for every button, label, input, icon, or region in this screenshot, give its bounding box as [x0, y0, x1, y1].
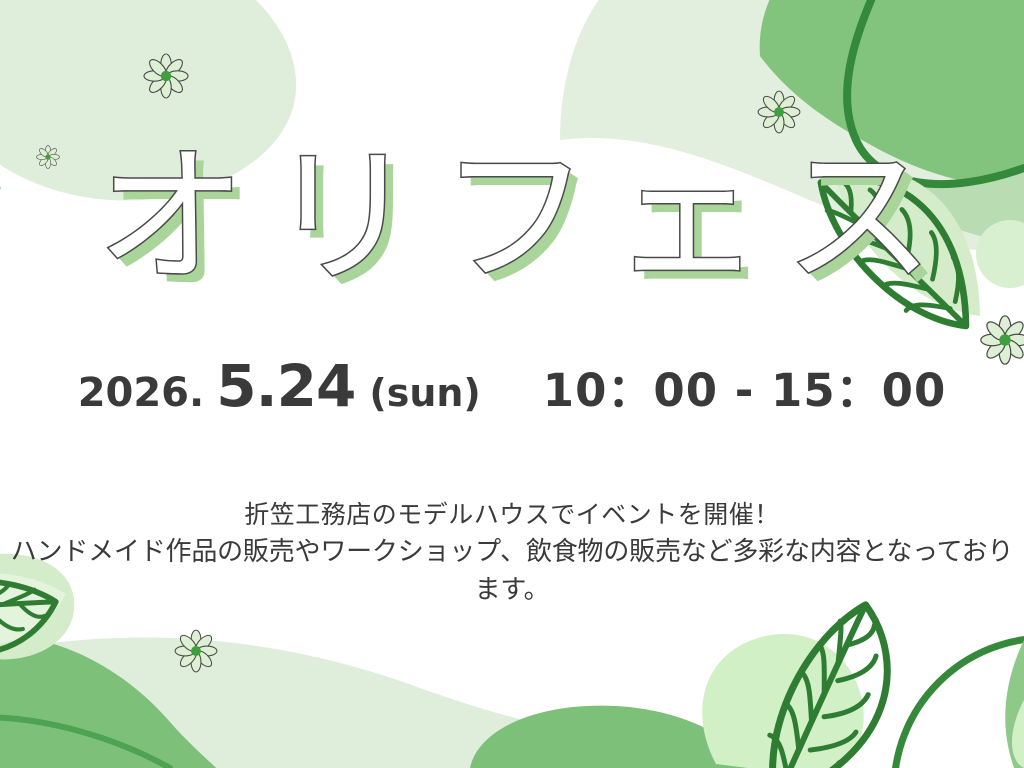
event-title-text: オリフェス — [96, 118, 956, 318]
event-flyer-poster: オリフェス オリフェス 2026. 5.24 (sun) 10：00 - 15：… — [0, 0, 1024, 768]
event-day-of-week: (sun) — [369, 371, 480, 415]
event-description-line-2: ハンドメイド作品の販売やワークショップ、飲食物の販売など多彩な内容となっておりま… — [0, 533, 1024, 609]
event-day-month: 5.24 — [216, 352, 355, 420]
event-description: 折笠工務店のモデルハウスでイベントを開催！ ハンドメイド作品の販売やワークショッ… — [0, 497, 1024, 609]
content-layer: オリフェス オリフェス 2026. 5.24 (sun) 10：00 - 15：… — [0, 0, 1024, 768]
event-description-line-1: 折笠工務店のモデルハウスでイベントを開催！ — [0, 497, 1024, 533]
event-date-time: 2026. 5.24 (sun) 10：00 - 15：00 — [0, 352, 1024, 420]
event-year: 2026. — [78, 370, 205, 416]
event-time-range: 10：00 - 15：00 — [543, 354, 947, 419]
event-title: オリフェス オリフェス — [0, 118, 1024, 318]
